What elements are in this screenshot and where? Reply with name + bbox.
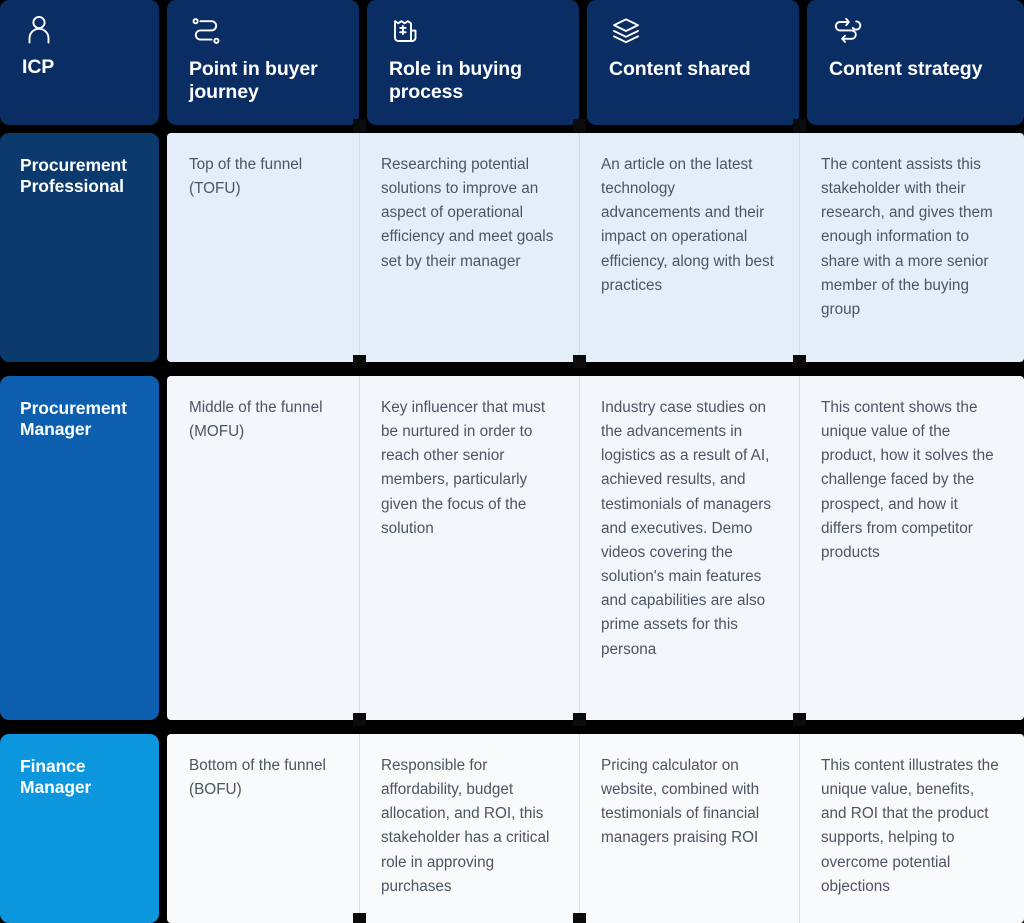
header-label-icp: ICP	[22, 56, 137, 79]
header-cell-icp: ICP	[0, 0, 159, 125]
row-body-procurement-professional: Top of the funnel (TOFU) Researching pot…	[167, 133, 1024, 362]
grid-joint-notch	[573, 913, 586, 923]
cell-r1-content-strategy: The content assists this stakeholder wit…	[799, 133, 1024, 362]
row-label-text: Procurement Professional	[20, 155, 139, 196]
cell-r3-point-in-buyer-journey: Bottom of the funnel (BOFU)	[167, 734, 359, 923]
cell-text: The content assists this stakeholder wit…	[821, 153, 1002, 322]
grid-joint-notch	[573, 355, 586, 368]
cell-r1-role-in-buying-process: Researching potential solutions to impro…	[359, 133, 579, 362]
cell-text: Top of the funnel (TOFU)	[189, 153, 337, 201]
row-body-finance-manager: Bottom of the funnel (BOFU) Responsible …	[167, 734, 1024, 923]
cell-text: This content illustrates the unique valu…	[821, 754, 1002, 899]
grid-joint-notch	[573, 713, 586, 726]
cell-text: Bottom of the funnel (BOFU)	[189, 754, 337, 802]
header-cell-point-in-buyer-journey: Point in buyer journey	[167, 0, 359, 125]
cell-text: Pricing calculator on website, combined …	[601, 754, 777, 851]
grid-joint-notch	[793, 713, 806, 726]
cell-r3-role-in-buying-process: Responsible for affordability, budget al…	[359, 734, 579, 923]
grid-joint-notch	[793, 119, 806, 132]
header-label-content-shared: Content shared	[609, 58, 777, 81]
layers-stack-icon	[609, 14, 643, 48]
cell-text: Researching potential solutions to impro…	[381, 153, 557, 274]
cell-r3-content-strategy: This content illustrates the unique valu…	[799, 734, 1024, 923]
cell-r2-role-in-buying-process: Key influencer that must be nurtured in …	[359, 376, 579, 720]
grid-joint-notch	[353, 913, 366, 923]
row-label-procurement-professional: Procurement Professional	[0, 133, 159, 362]
header-label-point-in-buyer-journey: Point in buyer journey	[189, 58, 337, 104]
cell-text: An article on the latest technology adva…	[601, 153, 777, 298]
cell-text: Industry case studies on the advancement…	[601, 396, 777, 662]
cell-text: Responsible for affordability, budget al…	[381, 754, 557, 899]
grid-joint-notch	[353, 119, 366, 132]
header-label-content-strategy: Content strategy	[829, 58, 1002, 81]
cell-r2-content-strategy: This content shows the unique value of t…	[799, 376, 1024, 720]
grid-joint-notch	[353, 355, 366, 368]
grid-joint-notch	[793, 355, 806, 368]
row-label-procurement-manager: Procurement Manager	[0, 376, 159, 720]
person-icon	[22, 12, 56, 46]
cell-text: Key influencer that must be nurtured in …	[381, 396, 557, 541]
cell-r3-content-shared: Pricing calculator on website, combined …	[579, 734, 799, 923]
grid-joint-notch	[573, 119, 586, 132]
header-cell-role-in-buying-process: Role in buying process	[367, 0, 579, 125]
header-label-role-in-buying-process: Role in buying process	[389, 58, 557, 104]
header-cell-content-strategy: Content strategy	[807, 0, 1024, 125]
route-path-icon	[189, 14, 223, 48]
persona-content-matrix: ICP Point in buyer journey Role in buyin…	[0, 0, 1024, 923]
row-label-text: Procurement Manager	[20, 398, 139, 439]
cell-r2-point-in-buyer-journey: Middle of the funnel (MOFU)	[167, 376, 359, 720]
cell-text: This content shows the unique value of t…	[821, 396, 1002, 565]
strategy-arrows-icon	[829, 14, 863, 48]
row-label-text: Finance Manager	[20, 756, 139, 797]
row-label-finance-manager: Finance Manager	[0, 734, 159, 923]
cell-text: Middle of the funnel (MOFU)	[189, 396, 337, 444]
cell-r1-content-shared: An article on the latest technology adva…	[579, 133, 799, 362]
header-cell-content-shared: Content shared	[587, 0, 799, 125]
row-body-procurement-manager: Middle of the funnel (MOFU) Key influenc…	[167, 376, 1024, 720]
receipt-dollar-icon	[389, 14, 423, 48]
grid-joint-notch	[353, 713, 366, 726]
cell-r1-point-in-buyer-journey: Top of the funnel (TOFU)	[167, 133, 359, 362]
cell-r2-content-shared: Industry case studies on the advancement…	[579, 376, 799, 720]
